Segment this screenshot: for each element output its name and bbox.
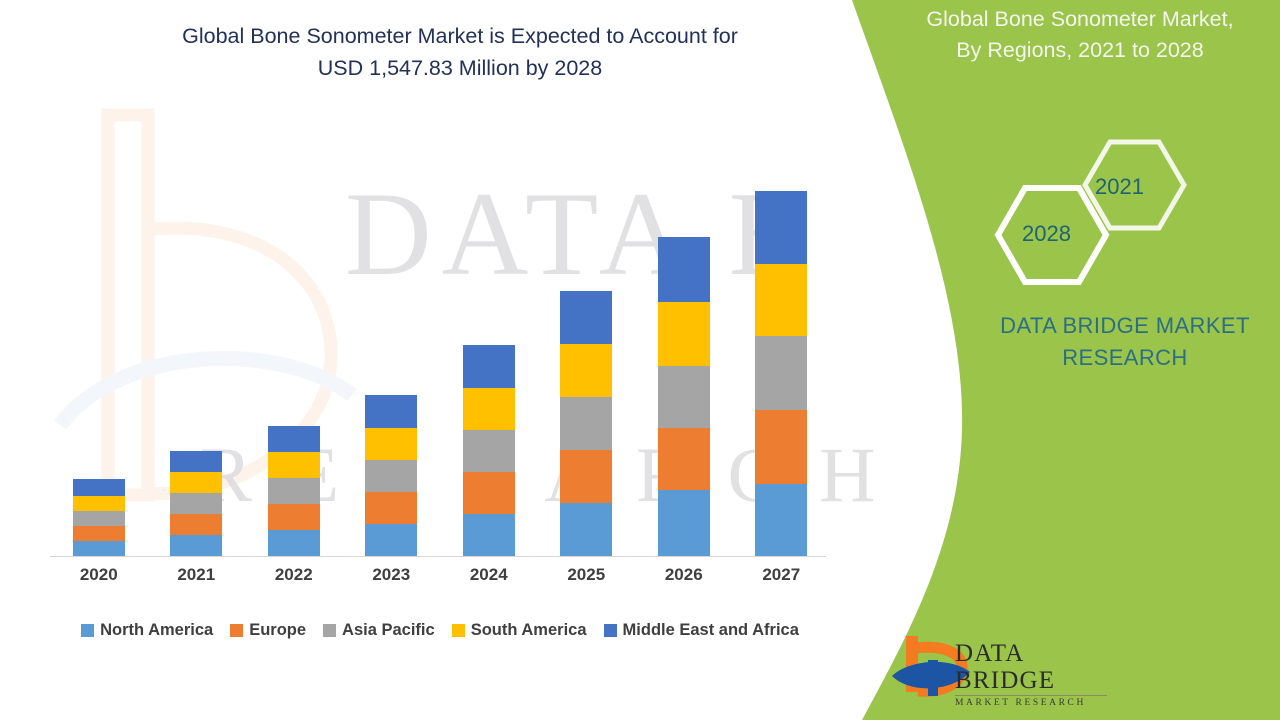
x-axis-label-2020: 2020: [54, 565, 144, 585]
legend-item-europe[interactable]: Europe: [230, 621, 306, 640]
chart-legend: North AmericaEuropeAsia PacificSouth Ame…: [50, 617, 830, 643]
x-axis-label-2026: 2026: [639, 565, 729, 585]
bar-segment[interactable]: [560, 450, 612, 503]
bar-segment[interactable]: [755, 336, 807, 410]
bar-2022[interactable]: [268, 426, 320, 556]
panel-brand-line2: RESEARCH: [975, 342, 1275, 374]
slide-canvas: DATA B R E S E A R C H Global Bone Sonom…: [0, 0, 1280, 720]
bar-2027[interactable]: [755, 191, 807, 556]
x-axis-label-2021: 2021: [151, 565, 241, 585]
legend-swatch-icon: [323, 624, 336, 637]
bar-segment[interactable]: [73, 479, 125, 496]
bar-segment[interactable]: [268, 504, 320, 530]
bar-2023[interactable]: [365, 395, 417, 556]
bar-segment[interactable]: [463, 430, 515, 472]
bar-segment[interactable]: [170, 451, 222, 472]
bar-segment[interactable]: [170, 493, 222, 514]
x-axis-labels: 20202021202220232024202520262027: [50, 565, 830, 593]
bar-segment[interactable]: [560, 291, 612, 344]
bar-segment[interactable]: [365, 524, 417, 556]
bar-segment[interactable]: [755, 484, 807, 556]
panel-brand-text: DATA BRIDGE MARKET RESEARCH: [975, 310, 1275, 374]
bar-segment[interactable]: [560, 397, 612, 450]
logo-tagline: MARKET RESEARCH: [955, 698, 1125, 708]
bar-segment[interactable]: [268, 530, 320, 556]
legend-item-north-america[interactable]: North America: [81, 621, 213, 640]
x-axis-label-2022: 2022: [249, 565, 339, 585]
bar-segment[interactable]: [658, 428, 710, 490]
bar-segment[interactable]: [170, 535, 222, 556]
bar-2020[interactable]: [73, 479, 125, 556]
bar-segment[interactable]: [170, 472, 222, 493]
bar-segment[interactable]: [73, 541, 125, 556]
bar-segment[interactable]: [268, 452, 320, 478]
hexagon-label-2021: 2021: [1095, 174, 1144, 200]
x-axis-label-2023: 2023: [346, 565, 436, 585]
bar-segment[interactable]: [463, 514, 515, 556]
legend-swatch-icon: [604, 624, 617, 637]
legend-swatch-icon: [452, 624, 465, 637]
page-title: Global Bone Sonometer Market is Expected…: [60, 20, 860, 84]
panel-title: Global Bone Sonometer Market, By Regions…: [885, 4, 1275, 66]
bar-segment[interactable]: [560, 503, 612, 556]
bar-segment[interactable]: [463, 345, 515, 388]
x-axis-label-2025: 2025: [541, 565, 631, 585]
legend-label: Asia Pacific: [342, 621, 435, 640]
bar-segment[interactable]: [755, 191, 807, 264]
bar-2024[interactable]: [463, 345, 515, 556]
bar-segment[interactable]: [268, 426, 320, 452]
bar-segment[interactable]: [658, 366, 710, 428]
bar-segment[interactable]: [463, 472, 515, 514]
legend-label: North America: [100, 621, 213, 640]
hexagon-group: [975, 130, 1205, 295]
bar-segment[interactable]: [365, 428, 417, 460]
bar-2025[interactable]: [560, 291, 612, 556]
bar-segment[interactable]: [365, 492, 417, 524]
legend-item-asia-pacific[interactable]: Asia Pacific: [323, 621, 435, 640]
legend-swatch-icon: [230, 624, 243, 637]
bar-segment[interactable]: [268, 478, 320, 504]
bar-segment[interactable]: [73, 496, 125, 511]
bar-segment[interactable]: [73, 526, 125, 541]
x-axis-line: [50, 556, 826, 557]
bar-segment[interactable]: [365, 460, 417, 492]
bar-segment[interactable]: [658, 237, 710, 302]
bar-segment[interactable]: [658, 490, 710, 556]
bar-segment[interactable]: [170, 514, 222, 535]
panel-title-line2: By Regions, 2021 to 2028: [885, 35, 1275, 66]
bar-2021[interactable]: [170, 451, 222, 556]
legend-swatch-icon: [81, 624, 94, 637]
bar-segment[interactable]: [560, 344, 612, 397]
legend-item-south-america[interactable]: South America: [452, 621, 587, 640]
chart-title-line1: Global Bone Sonometer Market is Expected…: [60, 20, 860, 52]
x-axis-label-2027: 2027: [736, 565, 826, 585]
bar-segment[interactable]: [365, 395, 417, 428]
legend-label: Europe: [249, 621, 306, 640]
bar-2026[interactable]: [658, 237, 710, 556]
x-axis-label-2024: 2024: [444, 565, 534, 585]
bar-segment[interactable]: [73, 511, 125, 526]
bar-segment[interactable]: [755, 264, 807, 336]
panel-brand-line1: DATA BRIDGE MARKET: [975, 310, 1275, 342]
company-logo-text: DATA BRIDGE MARKET RESEARCH: [955, 640, 1125, 708]
bar-segment[interactable]: [463, 388, 515, 430]
stacked-bar-chart: [50, 120, 830, 556]
legend-item-middle-east-and-africa[interactable]: Middle East and Africa: [604, 621, 799, 640]
logo-title: DATA BRIDGE: [955, 640, 1125, 694]
bar-segment[interactable]: [755, 410, 807, 484]
panel-title-line1: Global Bone Sonometer Market,: [885, 4, 1275, 35]
chart-title-line2: USD 1,547.83 Million by 2028: [60, 52, 860, 84]
legend-label: Middle East and Africa: [623, 621, 799, 640]
legend-label: South America: [471, 621, 587, 640]
hexagon-label-2028: 2028: [1022, 221, 1071, 247]
bar-segment[interactable]: [658, 302, 710, 366]
logo-divider: [955, 695, 1107, 696]
